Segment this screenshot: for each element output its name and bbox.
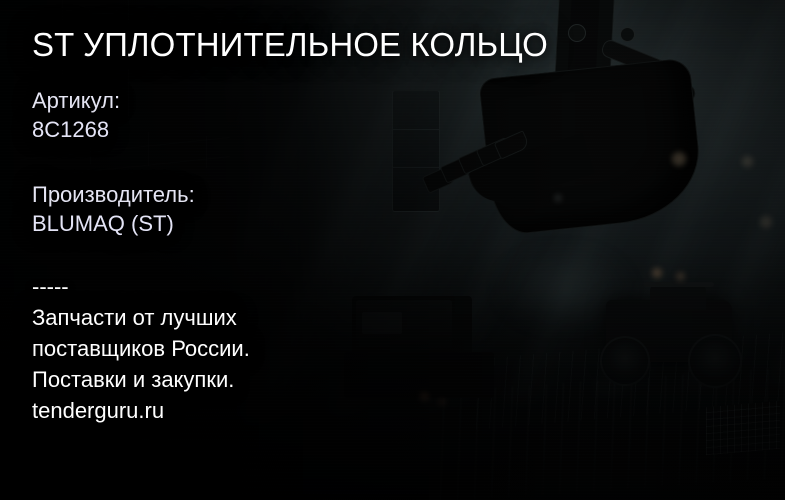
banner-content: ST УПЛОТНИТЕЛЬНОЕ КОЛЬЦО Артикул: 8C1268… [32, 0, 552, 500]
text-divider: ----- [32, 272, 69, 301]
promo-line-2: поставщиков России. [32, 333, 250, 364]
field-manufacturer-label: Производитель: [32, 180, 195, 209]
promo-site-url: tenderguru.ru [32, 395, 250, 426]
promo-line-1: Запчасти от лучших [32, 302, 250, 333]
field-manufacturer: Производитель: BLUMAQ (ST) [32, 180, 195, 238]
field-manufacturer-value: BLUMAQ (ST) [32, 209, 195, 238]
field-article-value: 8C1268 [32, 115, 120, 144]
product-title: ST УПЛОТНИТЕЛЬНОЕ КОЛЬЦО [32, 26, 548, 64]
promo-block: Запчасти от лучших поставщиков России. П… [32, 302, 250, 426]
promo-line-3: Поставки и закупки. [32, 364, 250, 395]
product-banner: ST УПЛОТНИТЕЛЬНОЕ КОЛЬЦО Артикул: 8C1268… [0, 0, 785, 500]
field-article: Артикул: 8C1268 [32, 86, 120, 144]
field-article-label: Артикул: [32, 86, 120, 115]
